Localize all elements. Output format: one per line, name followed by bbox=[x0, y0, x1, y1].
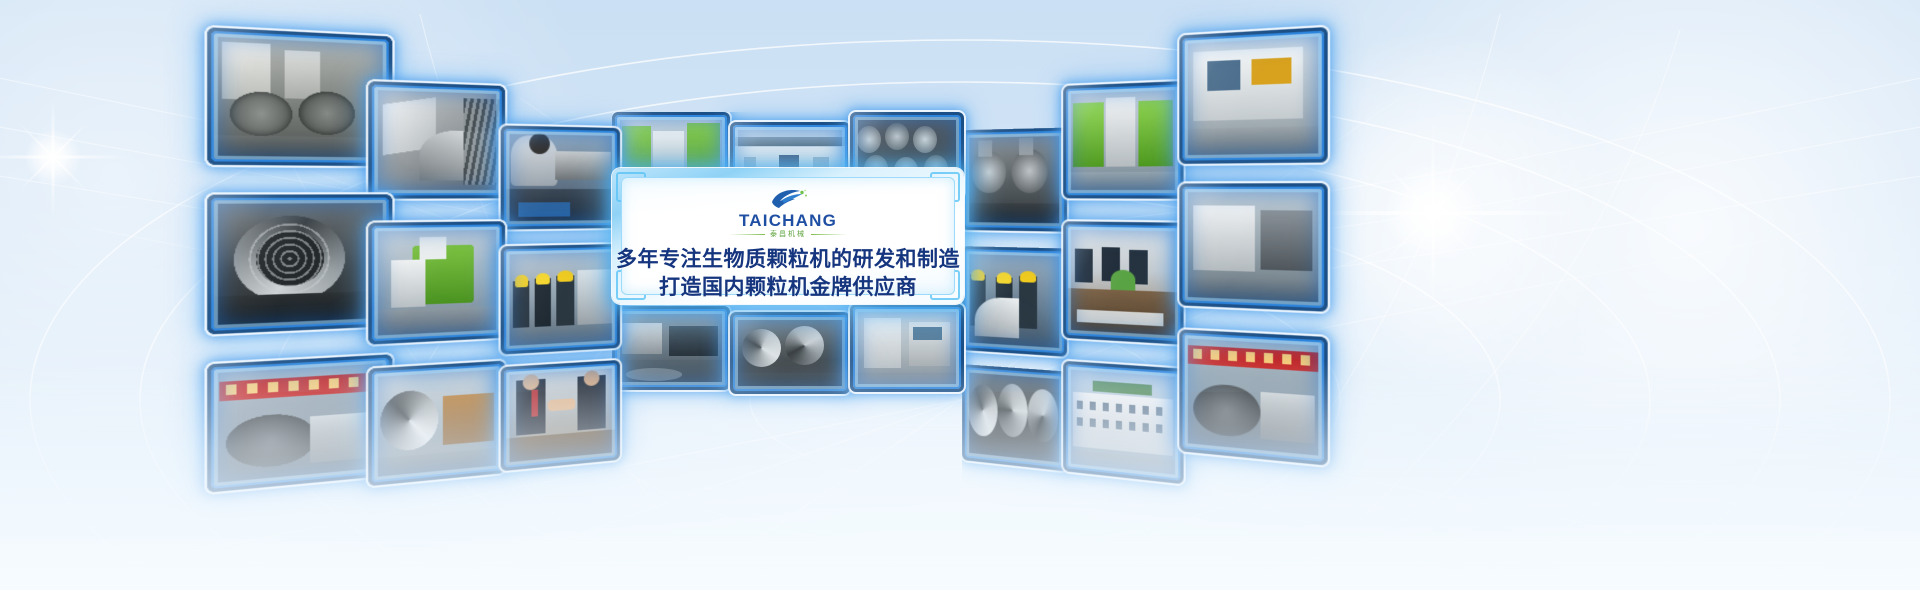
logo-chinese-name: 泰昌机械 bbox=[770, 231, 806, 238]
panel-ring-die-closeup[interactable] bbox=[368, 81, 505, 199]
panel-gearbox-assembly[interactable] bbox=[207, 27, 392, 166]
taichang-bird-swoosh-icon bbox=[767, 187, 809, 211]
center-message-card: TAICHANG 泰昌机械 多年专注生物质颗粒机的研发和制造 打造国内颗粒机金牌… bbox=[612, 168, 964, 304]
panel-worker-at-lathe[interactable] bbox=[501, 125, 620, 229]
panel-ring-die-drilling[interactable] bbox=[207, 194, 392, 334]
panel-group-right bbox=[962, 20, 1323, 421]
tagline: 多年专注生物质颗粒机的研发和制造 打造国内颗粒机金牌供应商 bbox=[616, 246, 960, 301]
panel-stacked-ring-dies[interactable] bbox=[962, 364, 1067, 472]
panel-company-office-building[interactable] bbox=[1063, 361, 1183, 485]
tagline-line-1: 多年专注生物质颗粒机的研发和制造 bbox=[616, 246, 960, 274]
logo-wordmark: TAICHANG bbox=[739, 212, 837, 229]
hero-banner: TAICHANG 泰昌机械 多年专注生物质颗粒机的研发和制造 打造国内颗粒机金牌… bbox=[0, 0, 1920, 590]
logo-rule-left bbox=[729, 234, 765, 235]
panel-large-industrial-machine[interactable] bbox=[1179, 183, 1327, 312]
panel-business-handshake[interactable] bbox=[501, 360, 620, 471]
panel-green-pellet-machine-workshop[interactable] bbox=[368, 221, 505, 344]
panel-workshop-floor-machinery[interactable] bbox=[612, 306, 730, 390]
panel-workers-inspecting-machine[interactable] bbox=[501, 244, 620, 355]
card-inner: TAICHANG 泰昌机械 多年专注生物质颗粒机的研发和制造 打造国内颗粒机金牌… bbox=[621, 177, 955, 295]
company-logo[interactable]: TAICHANG 泰昌机械 bbox=[729, 187, 847, 238]
panel-machine-shop-red-banner[interactable] bbox=[207, 354, 392, 492]
panel-group-left bbox=[207, 20, 618, 421]
logo-subtitle: 泰昌机械 bbox=[729, 231, 847, 238]
panel-office-meeting-room[interactable] bbox=[1063, 221, 1183, 345]
panel-control-cabinet[interactable] bbox=[850, 304, 964, 392]
panel-green-pellet-machine-row[interactable] bbox=[1063, 81, 1183, 199]
panel-machine-shop-interior[interactable] bbox=[1179, 329, 1327, 465]
panel-roller-shell-parts[interactable] bbox=[730, 312, 850, 394]
logo-rule-right bbox=[811, 234, 847, 235]
tagline-line-2: 打造国内颗粒机金牌供应商 bbox=[616, 274, 960, 302]
panel-warehouse-equipment[interactable] bbox=[368, 361, 505, 487]
panel-white-cnc-machine[interactable] bbox=[1179, 27, 1327, 164]
panel-gear-drive-assembly[interactable] bbox=[962, 127, 1067, 231]
panel-helmeted-engineers-inspection[interactable] bbox=[962, 246, 1067, 357]
